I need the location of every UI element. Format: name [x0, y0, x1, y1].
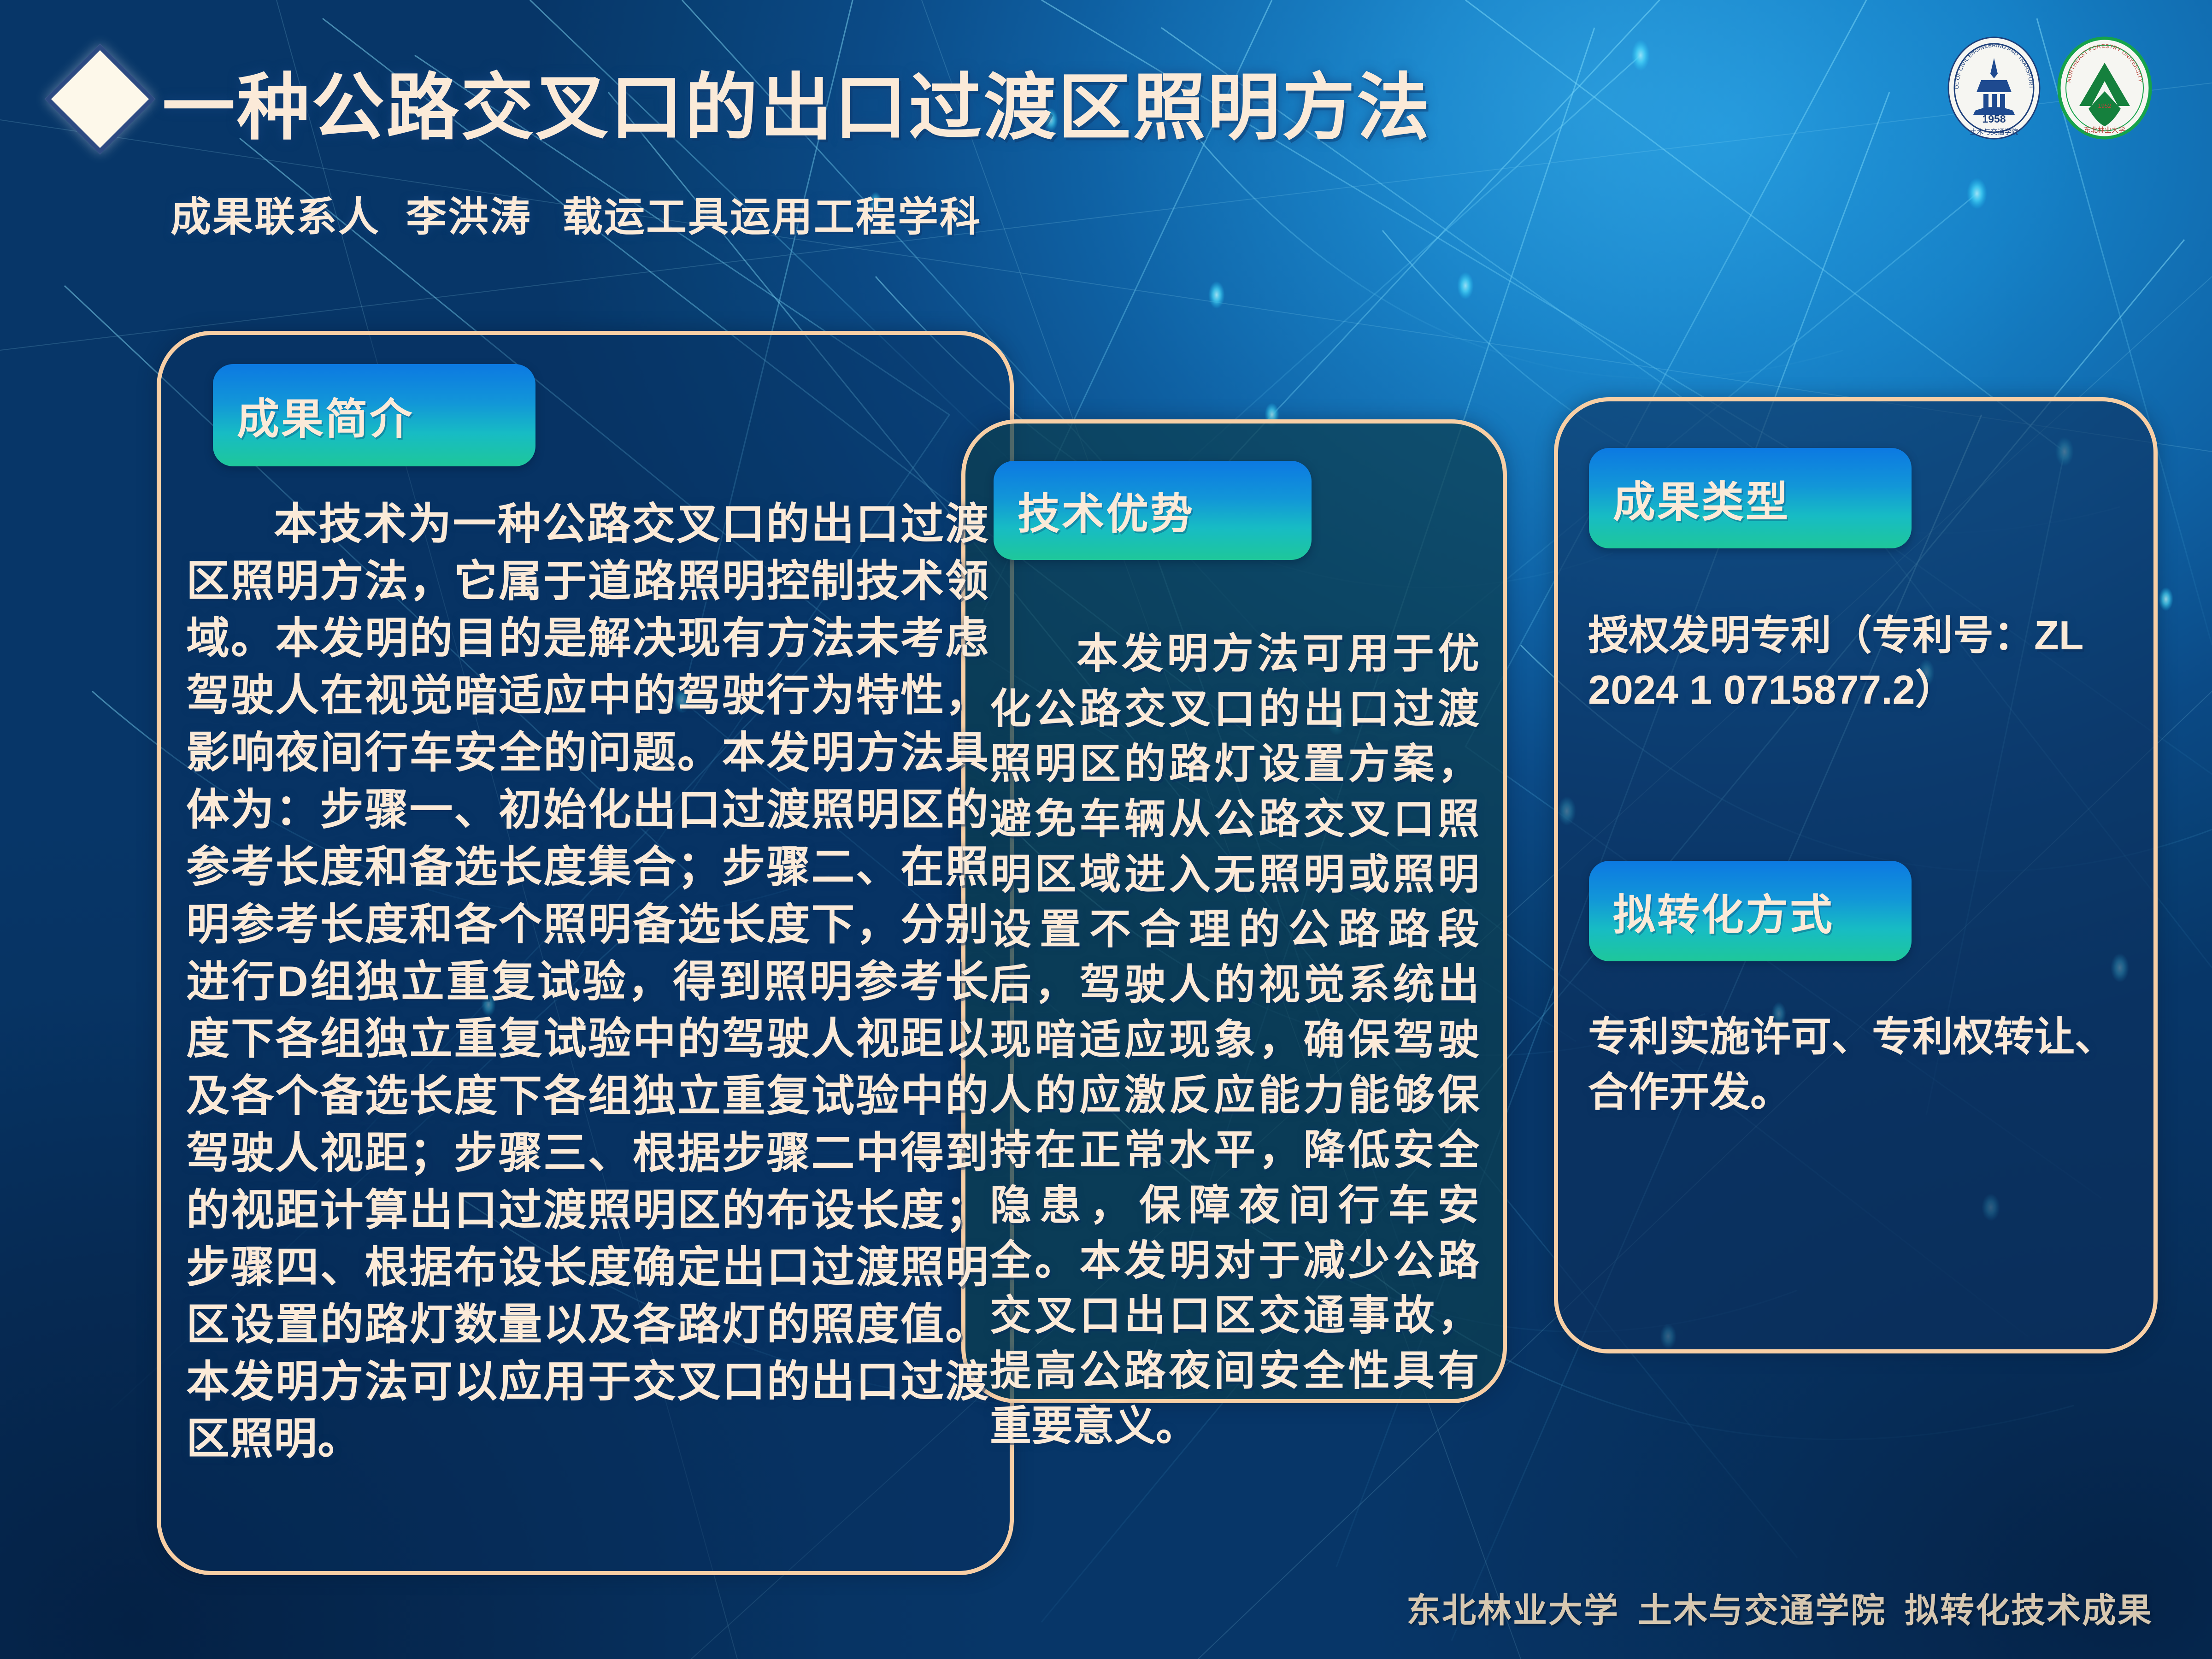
badge-label: 拟转化方式: [1613, 881, 1834, 942]
footer-attribution: 东北林业大学土木与交通学院拟转化技术成果: [1406, 1583, 2153, 1632]
badge-result-type: 成果类型: [1589, 448, 1912, 548]
svg-text:东北林业大学: 东北林业大学: [2084, 126, 2125, 134]
logo-group: 1958 土木与交通学院 SCHOOL OF CIVIL ENGINEERING…: [1947, 36, 2152, 140]
slide-canvas: 一种公路交叉口的出口过渡区照明方法 成果联系人李洪涛载运工具运用工程学科 195…: [0, 0, 2212, 1659]
svg-text:1958: 1958: [1982, 113, 2006, 125]
footer-label: 拟转化技术成果: [1905, 1591, 2153, 1630]
badge-transfer-mode: 拟转化方式: [1589, 861, 1912, 961]
footer-school: 土木与交通学院: [1638, 1591, 1886, 1630]
contact-role-label: 成果联系人: [171, 194, 380, 240]
northeast-forestry-university-logo: 1952 东北林业大学 NORTHEAST FORESTRY UNIVERSIT…: [2057, 36, 2152, 140]
badge-result-introduction: 成果简介: [213, 364, 535, 466]
page-title: 一种公路交叉口的出口过渡区照明方法: [162, 48, 1431, 154]
text-result-introduction: 本技术为一种公路交叉口的出口过渡区照明方法，它属于道路照明控制技术领域。本发明的…: [186, 495, 989, 1467]
school-of-civil-engineering-and-transportation-logo: 1958 土木与交通学院 SCHOOL OF CIVIL ENGINEERING…: [1947, 36, 2041, 140]
intro-body: 本技术为一种公路交叉口的出口过渡区照明方法，它属于道路照明控制技术领域。本发明的…: [186, 500, 989, 1463]
svg-text:1952: 1952: [2098, 102, 2112, 109]
contact-name: 李洪涛: [406, 194, 532, 240]
advantage-body: 本发明方法可用于优化公路交叉口的出口过渡照明区的路灯设置方案，避免车辆从公路交叉…: [990, 631, 1479, 1449]
text-transfer-mode: 专利实施许可、专利权转让、合作开发。: [1588, 1009, 2127, 1119]
badge-technical-advantage: 技术优势: [994, 461, 1312, 560]
footer-university: 东北林业大学: [1406, 1591, 1619, 1630]
badge-label: 成果类型: [1613, 468, 1790, 529]
page-subtitle: 成果联系人李洪涛载运工具运用工程学科: [171, 184, 982, 243]
discipline-label: 载运工具运用工程学科: [562, 194, 982, 240]
svg-text:土木与交通学院: 土木与交通学院: [1970, 128, 2018, 136]
badge-label: 技术优势: [1018, 480, 1194, 541]
text-result-type: 授权发明专利（专利号：ZL 2024 1 0715877.2）: [1588, 608, 2136, 717]
text-technical-advantage: 本发明方法可用于优化公路交叉口的出口过渡照明区的路灯设置方案，避免车辆从公路交叉…: [990, 627, 1479, 1454]
badge-label: 成果简介: [237, 385, 414, 446]
